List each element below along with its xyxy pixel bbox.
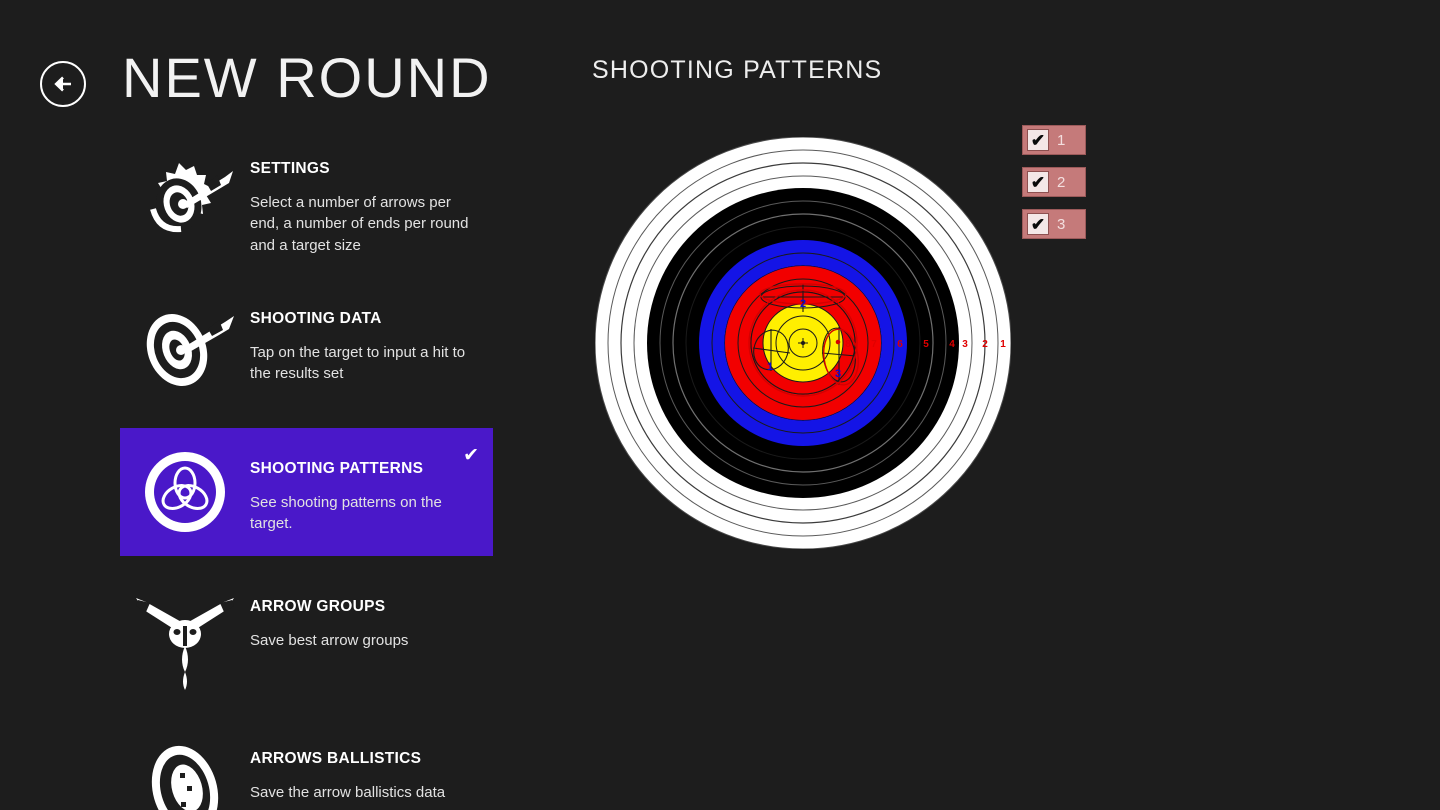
pattern-legend: ✔ 1 ✔ 2 ✔ 3 — [1022, 125, 1086, 251]
sidebar-item-shooting-data[interactable]: SHOOTING DATA Tap on the target to input… — [120, 290, 493, 406]
sidebar-item-settings[interactable]: SETTINGS Select a number of arrows per e… — [120, 140, 493, 266]
sidebar-menu: SETTINGS Select a number of arrows per e… — [120, 140, 500, 810]
back-arrow-icon — [50, 71, 76, 97]
legend-row-1[interactable]: ✔ 1 — [1022, 125, 1086, 155]
pattern-hit-marker — [836, 340, 841, 345]
pattern-label-3: 3 — [835, 368, 841, 380]
shooting-patterns-icon — [120, 449, 250, 535]
sidebar-item-description: Save best arrow groups — [250, 630, 408, 651]
pattern-label-1: 1 — [767, 361, 773, 373]
legend-checkbox-3[interactable]: ✔ — [1027, 213, 1049, 235]
legend-checkbox-2[interactable]: ✔ — [1027, 171, 1049, 193]
sidebar-item-title: SETTINGS — [250, 160, 477, 178]
legend-row-2[interactable]: ✔ 2 — [1022, 167, 1086, 197]
target-svg[interactable]: 2 1 3 8 7 6 5 4 3 2 1 — [595, 137, 1011, 549]
sidebar-item-text: SETTINGS Select a number of arrows per e… — [250, 150, 493, 256]
gear-target-arrow-icon — [120, 150, 250, 256]
legend-row-3[interactable]: ✔ 3 — [1022, 209, 1086, 239]
legend-label-1: 1 — [1057, 132, 1065, 149]
sidebar-item-description: See shooting patterns on the target. — [250, 492, 477, 535]
sidebar-item-title: ARROWS BALLISTICS — [250, 750, 445, 768]
ring-label-4: 4 — [949, 339, 955, 350]
ring-label-3: 3 — [962, 339, 968, 350]
ring-label-1: 1 — [1000, 339, 1006, 350]
ring-label-7: 7 — [871, 339, 877, 350]
arrow-groups-icon — [120, 588, 250, 692]
target-arrow-icon — [120, 300, 250, 396]
sidebar-item-shooting-patterns[interactable]: SHOOTING PATTERNS See shooting patterns … — [120, 428, 493, 556]
sidebar-item-text: ARROWS BALLISTICS Save the arrow ballist… — [250, 740, 461, 810]
legend-label-3: 3 — [1057, 216, 1065, 233]
sidebar-item-arrows-ballistics[interactable]: ARROWS BALLISTICS Save the arrow ballist… — [120, 730, 493, 810]
sidebar-item-title: SHOOTING DATA — [250, 310, 477, 328]
sidebar-item-text: SHOOTING PATTERNS See shooting patterns … — [250, 450, 493, 535]
ring-label-8: 8 — [845, 339, 851, 350]
selected-check-icon: ✔ — [463, 446, 479, 465]
legend-label-2: 2 — [1057, 174, 1065, 191]
legend-checkbox-1[interactable]: ✔ — [1027, 129, 1049, 151]
main-panel-header: SHOOTING PATTERNS — [592, 56, 882, 85]
pattern-label-2: 2 — [800, 298, 806, 310]
sidebar-item-description: Select a number of arrows per end, a num… — [250, 192, 477, 256]
sidebar-item-text: SHOOTING DATA Tap on the target to input… — [250, 300, 493, 396]
sidebar-item-description: Tap on the target to input a hit to the … — [250, 342, 477, 385]
ring-label-5: 5 — [923, 339, 929, 350]
archery-target[interactable]: 2 1 3 8 7 6 5 4 3 2 1 — [595, 137, 1011, 549]
sidebar-item-description: Save the arrow ballistics data — [250, 782, 445, 803]
panel-title: SHOOTING PATTERNS — [592, 56, 882, 85]
page-title: NEW ROUND — [122, 50, 492, 106]
back-button[interactable] — [40, 61, 86, 107]
ring-label-2: 2 — [982, 339, 988, 350]
arrow-ballistics-icon — [120, 740, 250, 810]
sidebar-item-text: ARROW GROUPS Save best arrow groups — [250, 588, 424, 692]
sidebar-item-arrow-groups[interactable]: ARROW GROUPS Save best arrow groups — [120, 578, 493, 702]
app-window: NEW ROUND SETTINGS — [0, 0, 1440, 810]
sidebar-item-title: ARROW GROUPS — [250, 598, 408, 616]
sidebar-item-title: SHOOTING PATTERNS — [250, 460, 477, 478]
ring-label-6: 6 — [897, 339, 903, 350]
